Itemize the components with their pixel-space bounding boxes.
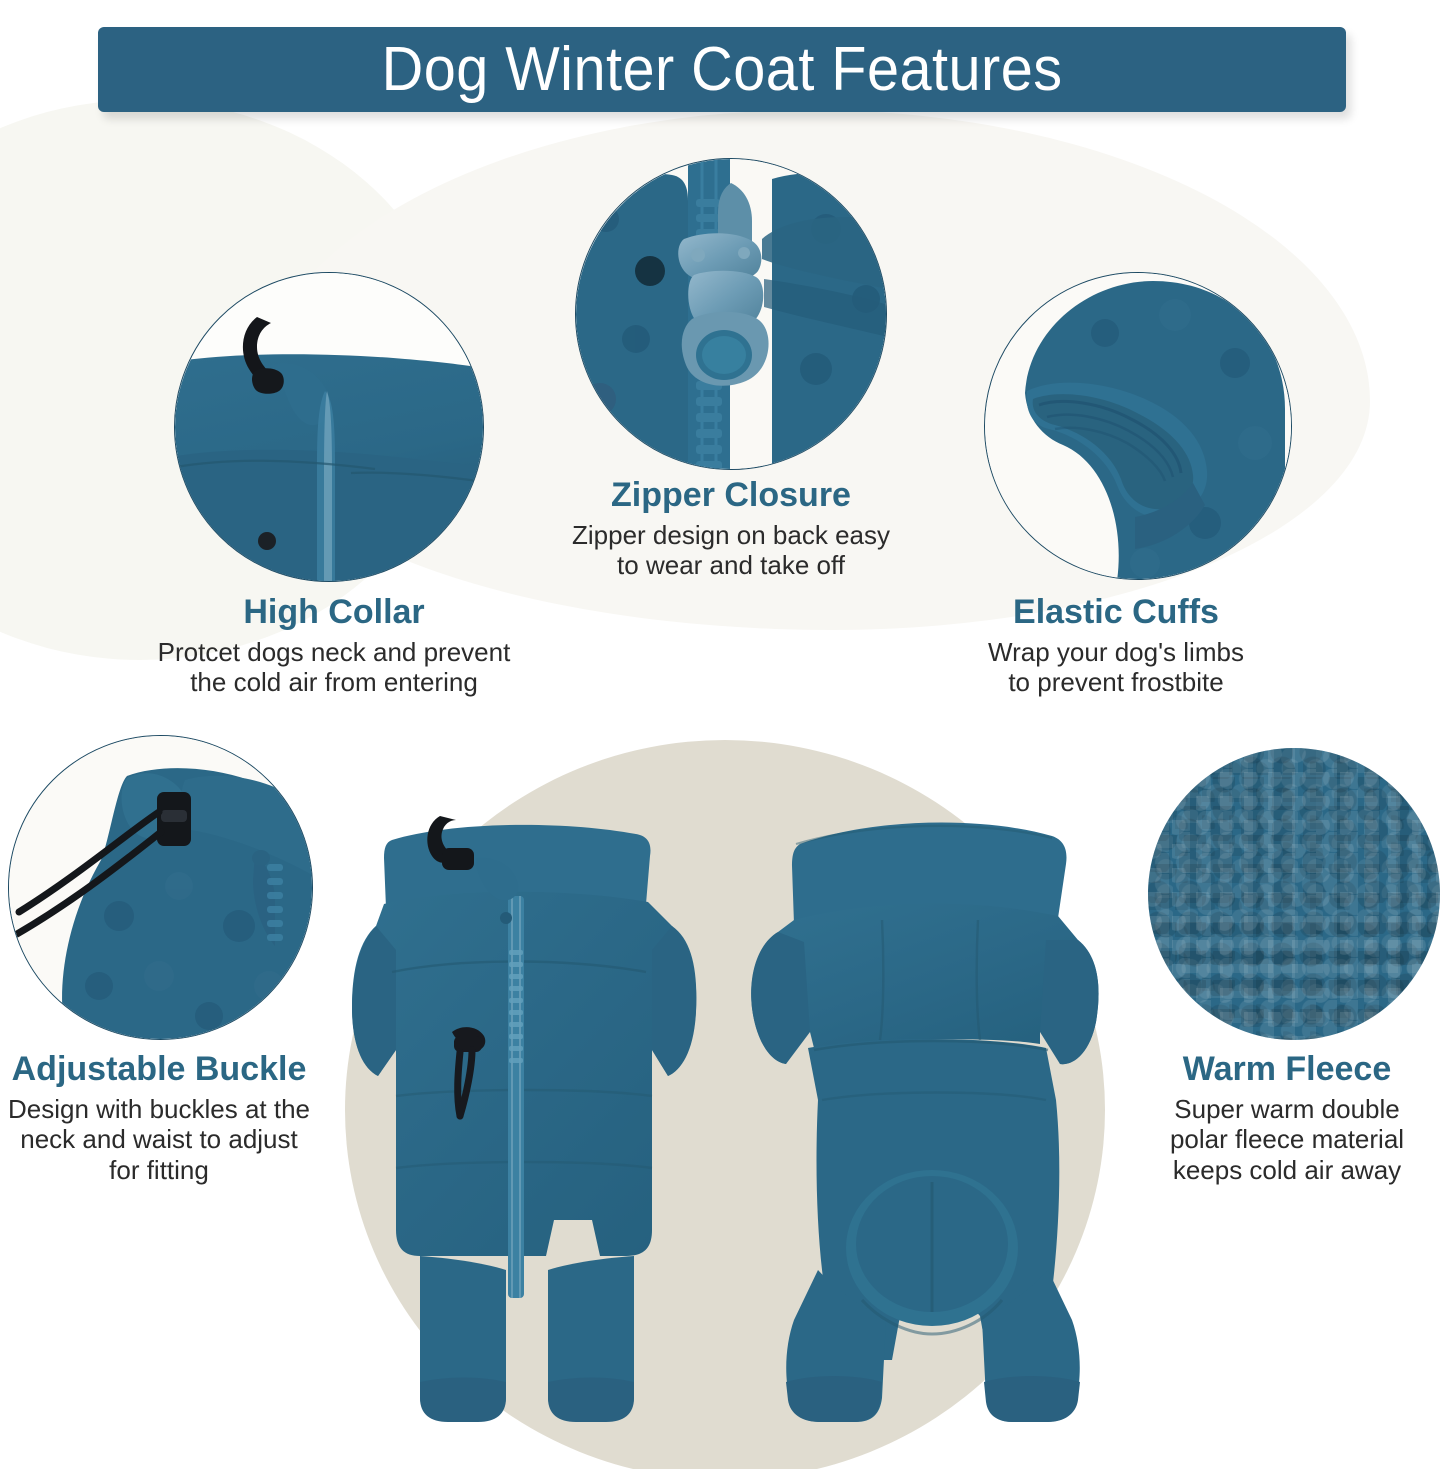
feature-adjustable-buckle-desc-line-2: neck and waist to adjust [0, 1124, 318, 1154]
feature-adjustable-buckle-title: Adjustable Buckle [0, 1050, 318, 1088]
page-title: Dog Winter Coat Features [382, 34, 1063, 105]
feature-elastic-cuffs-title: Elastic Cuffs [930, 593, 1302, 631]
high-collar-illustration [175, 273, 484, 582]
feature-high-collar-desc-line-2: the cold air from entering [95, 667, 573, 697]
feature-high-collar-title: High Collar [95, 593, 573, 631]
elastic-cuffs-photo [984, 272, 1292, 580]
feature-adjustable-buckle: Adjustable Buckle Design with buckles at… [0, 1050, 318, 1185]
feature-zipper-closure-desc-line-1: Zipper design on back easy [512, 520, 950, 550]
adjustable-buckle-photo [8, 735, 313, 1040]
feature-elastic-cuffs-desc-line-2: to prevent frostbite [930, 667, 1302, 697]
zipper-closure-photo [575, 158, 887, 470]
feature-zipper-closure-desc-line-2: to wear and take off [512, 550, 950, 580]
feature-high-collar-desc-line-1: Protcet dogs neck and prevent [95, 637, 573, 667]
feature-adjustable-buckle-desc-line-1: Design with buckles at the [0, 1094, 318, 1124]
feature-warm-fleece-desc-line-1: Super warm double [1128, 1094, 1445, 1124]
dog-coat-back-view [722, 800, 1122, 1460]
feature-elastic-cuffs-desc-line-1: Wrap your dog's limbs [930, 637, 1302, 667]
feature-adjustable-buckle-desc-line-3: for fitting [0, 1155, 318, 1185]
feature-zipper-closure: Zipper Closure Zipper design on back eas… [512, 476, 950, 581]
feature-warm-fleece-desc-line-2: polar fleece material [1128, 1124, 1445, 1154]
elastic-cuffs-illustration [985, 273, 1292, 580]
high-collar-photo [174, 272, 484, 582]
feature-zipper-closure-title: Zipper Closure [512, 476, 950, 514]
fleece-texture-swatch [1148, 748, 1440, 1040]
feature-high-collar: High Collar Protcet dogs neck and preven… [95, 593, 573, 698]
warm-fleece-photo [1148, 748, 1440, 1040]
feature-warm-fleece: Warm Fleece Super warm double polar flee… [1128, 1050, 1445, 1185]
zipper-closure-illustration [576, 159, 887, 470]
dog-coat-front-view [300, 800, 720, 1460]
feature-warm-fleece-title: Warm Fleece [1128, 1050, 1445, 1088]
adjustable-buckle-illustration [9, 736, 313, 1040]
header-bar: Dog Winter Coat Features [98, 27, 1346, 112]
feature-elastic-cuffs: Elastic Cuffs Wrap your dog's limbs to p… [930, 593, 1302, 698]
feature-warm-fleece-desc-line-3: keeps cold air away [1128, 1155, 1445, 1185]
